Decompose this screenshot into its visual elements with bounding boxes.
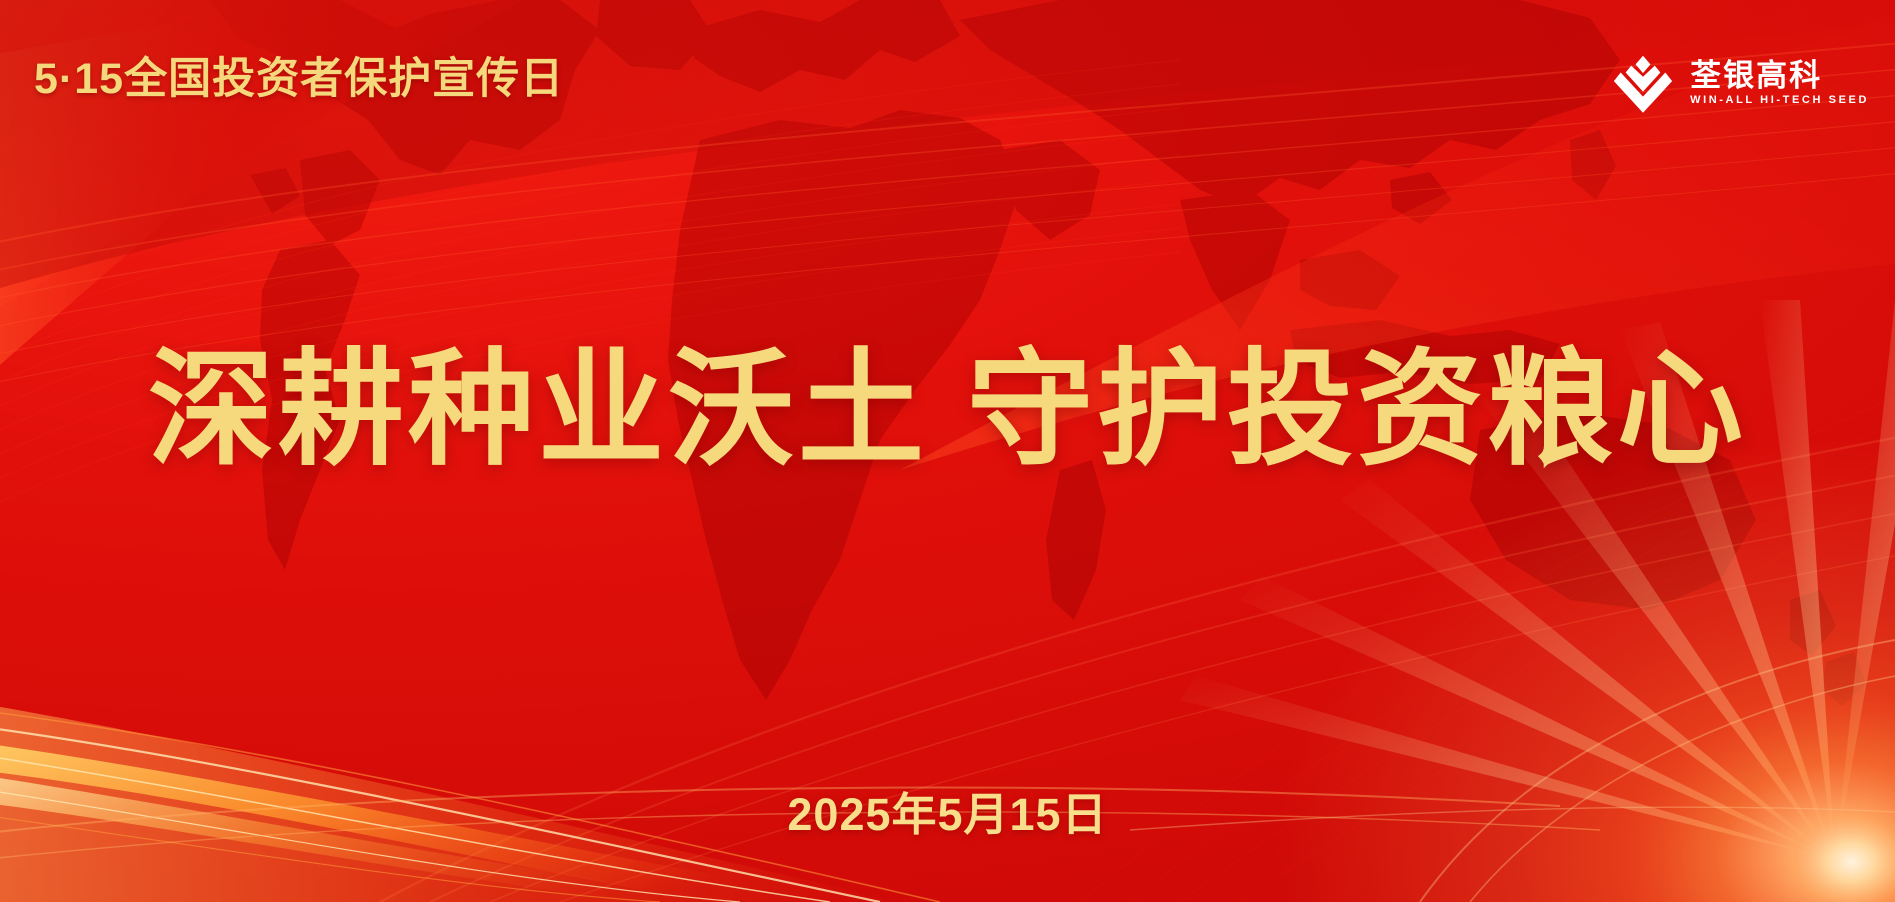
logo-wordmark: 荃银高科 WIN-ALL HI-TECH SEED	[1690, 60, 1869, 106]
chevron-diamond-icon	[1612, 52, 1674, 114]
page-title: 深耕种业沃土 守护投资粮心	[0, 338, 1895, 483]
event-date: 2025年5月15日	[0, 788, 1895, 842]
logo-company-cn: 荃银高科	[1690, 60, 1869, 91]
campaign-header-text: 5·15全国投资者保护宣传日	[34, 56, 564, 103]
logo-company-en: WIN-ALL HI-TECH SEED	[1690, 95, 1869, 106]
campaign-header: 5·15全国投资者保护宣传日	[34, 56, 564, 103]
banner-poster: 5·15全国投资者保护宣传日 荃银高科 WIN-ALL HI-TECH SEED…	[0, 0, 1895, 902]
company-logo[interactable]: 荃银高科 WIN-ALL HI-TECH SEED	[1612, 52, 1869, 114]
